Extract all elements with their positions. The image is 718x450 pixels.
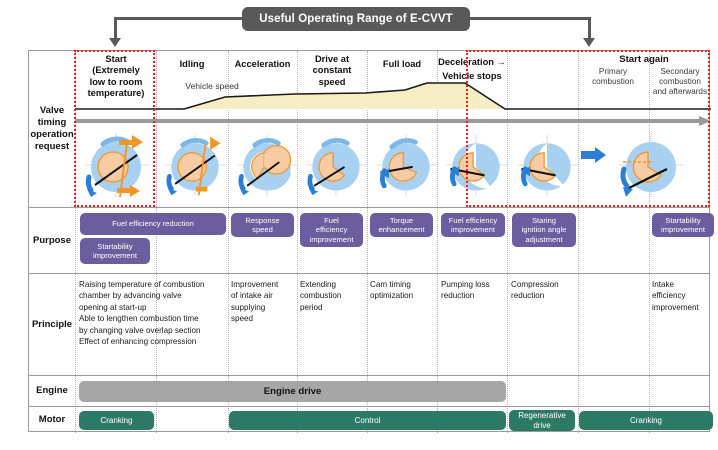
row-valve-timing: Valve timing operation request Start (Ex… — [29, 51, 709, 207]
cam-diagram-idling — [160, 129, 230, 201]
column-header-acceleration: Acceleration — [229, 59, 296, 70]
banner-title: Useful Operating Range of E-CVVT — [242, 7, 470, 31]
motor-bar-regenerative-drive[interactable]: Regenerative drive — [509, 410, 575, 431]
row-label-motor: Motor — [29, 407, 75, 433]
purpose-badge-startability-improvement-1[interactable]: Startability improvement — [80, 238, 150, 264]
arrow-left-down-icon — [109, 38, 121, 47]
purpose-badge-torque-enhancement[interactable]: Torque enhancement — [370, 213, 433, 237]
timeline-arrow-icon — [75, 115, 711, 127]
principle-text-secondary-combustion: Intake efficiency improvement — [652, 279, 714, 313]
row-purpose: Purpose Fuel efficiency reduction Starta… — [29, 208, 709, 273]
vehicle-speed-curve — [75, 73, 711, 113]
cam-diagram-acceleration — [232, 129, 302, 201]
cam-diagram-primary-combustion — [512, 129, 582, 201]
motor-bar-cranking-2[interactable]: Cranking — [579, 411, 713, 430]
ecvvt-operating-range-figure: Useful Operating Range of E-CVVT Valve t… — [0, 0, 718, 450]
row-label-purpose: Purpose — [29, 208, 75, 273]
connector-left-horizontal — [114, 17, 246, 20]
principle-text-full-load: Cam timing optimization — [370, 279, 436, 302]
engine-bar-engine-drive[interactable]: Engine drive — [79, 381, 506, 402]
cam-diagram-secondary-combustion — [611, 129, 687, 201]
cam-diagram-start — [79, 129, 153, 201]
arrow-right-down-icon — [583, 38, 595, 47]
cam-diagram-deceleration — [441, 129, 511, 201]
connector-right-horizontal — [466, 17, 591, 20]
principle-text-start-idling: Raising temperature of combustion chambe… — [79, 279, 229, 348]
banner-title-text: Useful Operating Range of E-CVVT — [259, 13, 453, 25]
principle-text-acceleration: Improvement of intake air supplying spee… — [231, 279, 297, 325]
row-engine: Engine Engine drive — [29, 376, 709, 406]
purpose-badge-fuel-efficiency-reduction[interactable]: Fuel efficiency reduction — [80, 213, 226, 235]
column-header-idling: Idling — [157, 59, 227, 70]
connector-right-vertical — [588, 17, 591, 40]
motor-bar-cranking-1[interactable]: Cranking — [79, 411, 154, 430]
cam-diagram-full-load — [371, 129, 441, 201]
principle-text-deceleration: Pumping loss reduction — [441, 279, 507, 302]
row-motor: Motor Cranking Control Regenerative driv… — [29, 407, 709, 433]
purpose-badge-response-speed[interactable]: Response speed — [231, 213, 294, 237]
connector-left-vertical — [114, 17, 117, 40]
motor-bar-control[interactable]: Control — [229, 411, 506, 430]
row-principle: Principle Raising temperature of combust… — [29, 274, 709, 375]
row-label-principle: Principle — [29, 274, 75, 375]
transition-arrow-right-icon — [581, 146, 607, 164]
principle-text-primary-combustion: Compression reduction — [511, 279, 577, 302]
purpose-badge-fuel-efficiency-improvement-2[interactable]: Fuel efficiency improvement — [441, 213, 505, 237]
banner-area: Useful Operating Range of E-CVVT — [0, 0, 718, 50]
row-label-engine: Engine — [29, 376, 75, 406]
principle-text-constant-speed: Extending combustion period — [300, 279, 366, 313]
operating-range-table: Valve timing operation request Start (Ex… — [28, 50, 710, 432]
row-label-valve: Valve timing operation request — [29, 51, 75, 207]
column-header-start-again: Start again — [579, 54, 709, 65]
cam-diagram-constant-speed — [301, 129, 371, 201]
purpose-badge-fuel-efficiency-improvement-1[interactable]: Fuel efficiency improvement — [300, 213, 363, 247]
column-header-full-load: Full load — [368, 59, 436, 70]
purpose-badge-staring-ignition-angle-adjustment[interactable]: Staring ignition angle adjustment — [512, 213, 576, 247]
purpose-badge-startability-improvement-2[interactable]: Startability improvement — [652, 213, 714, 237]
